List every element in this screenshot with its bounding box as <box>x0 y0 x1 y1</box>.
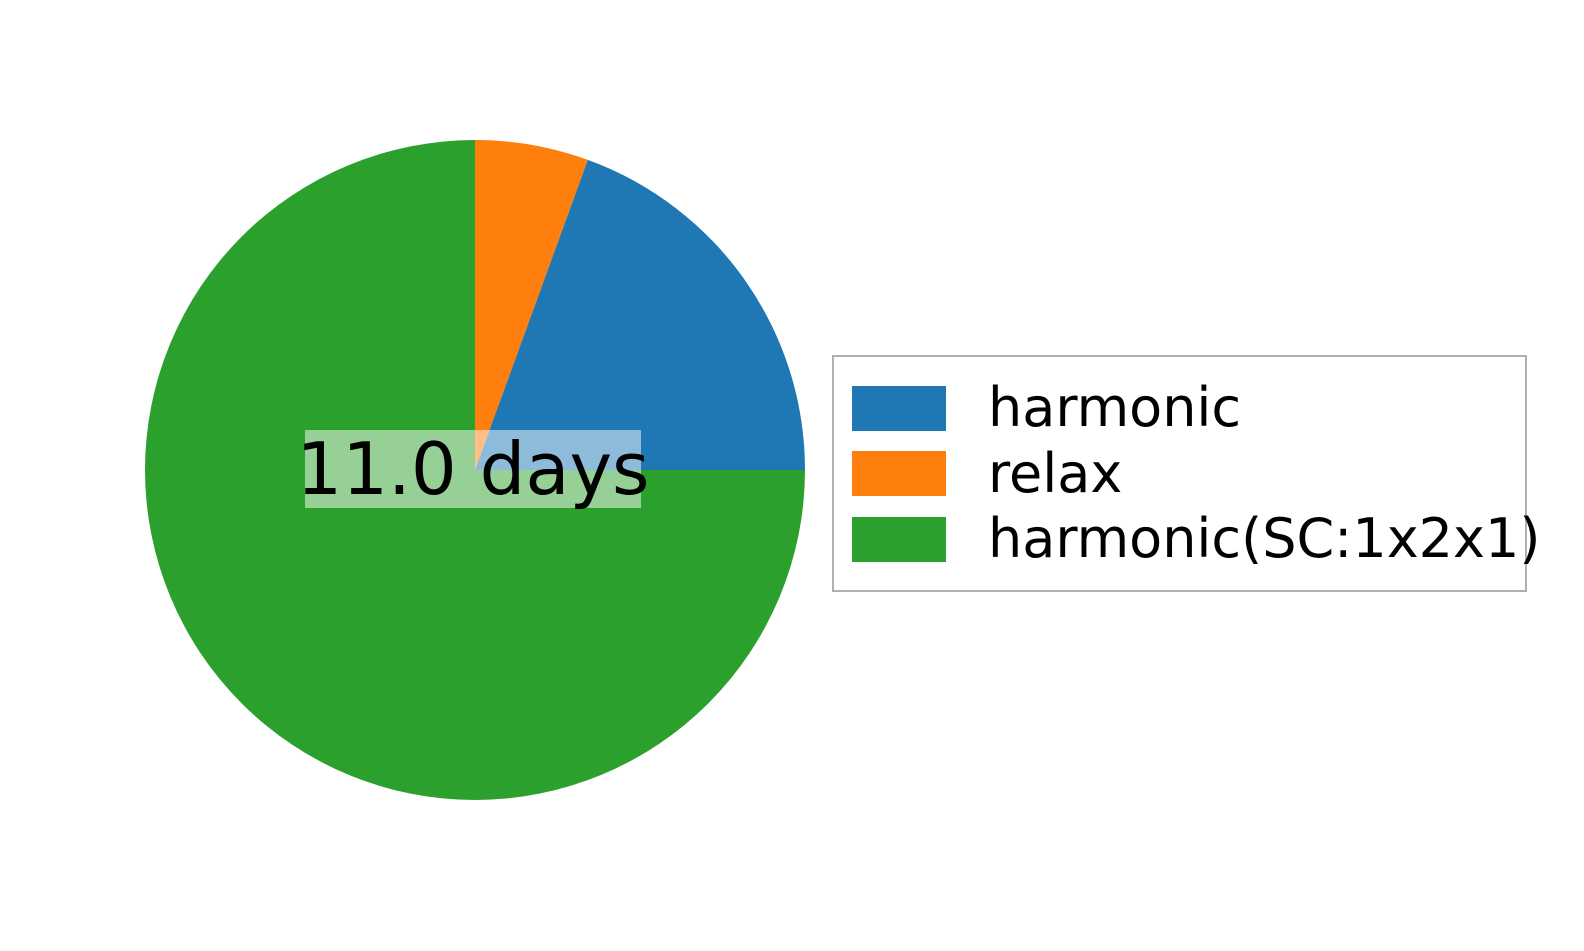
legend-swatch-relax <box>852 451 946 496</box>
legend-item-harmonic-sc[interactable]: harmonic(SC:1x2x1) <box>852 508 1507 570</box>
legend-label-harmonic: harmonic <box>988 381 1241 435</box>
legend-label-relax: relax <box>988 447 1122 501</box>
center-value-text: 11.0 days <box>296 433 649 505</box>
legend-item-relax[interactable]: relax <box>852 443 1507 505</box>
legend-item-harmonic[interactable]: harmonic <box>852 377 1507 439</box>
legend-swatch-harmonic <box>852 386 946 431</box>
legend: harmonic relax harmonic(SC:1x2x1) <box>832 355 1527 592</box>
figure-canvas: 11.0 days harmonic relax harmonic(SC:1x2… <box>0 0 1584 951</box>
center-value-label: 11.0 days <box>305 430 641 508</box>
legend-label-harmonic-sc: harmonic(SC:1x2x1) <box>988 512 1540 566</box>
legend-swatch-harmonic-sc <box>852 517 946 562</box>
